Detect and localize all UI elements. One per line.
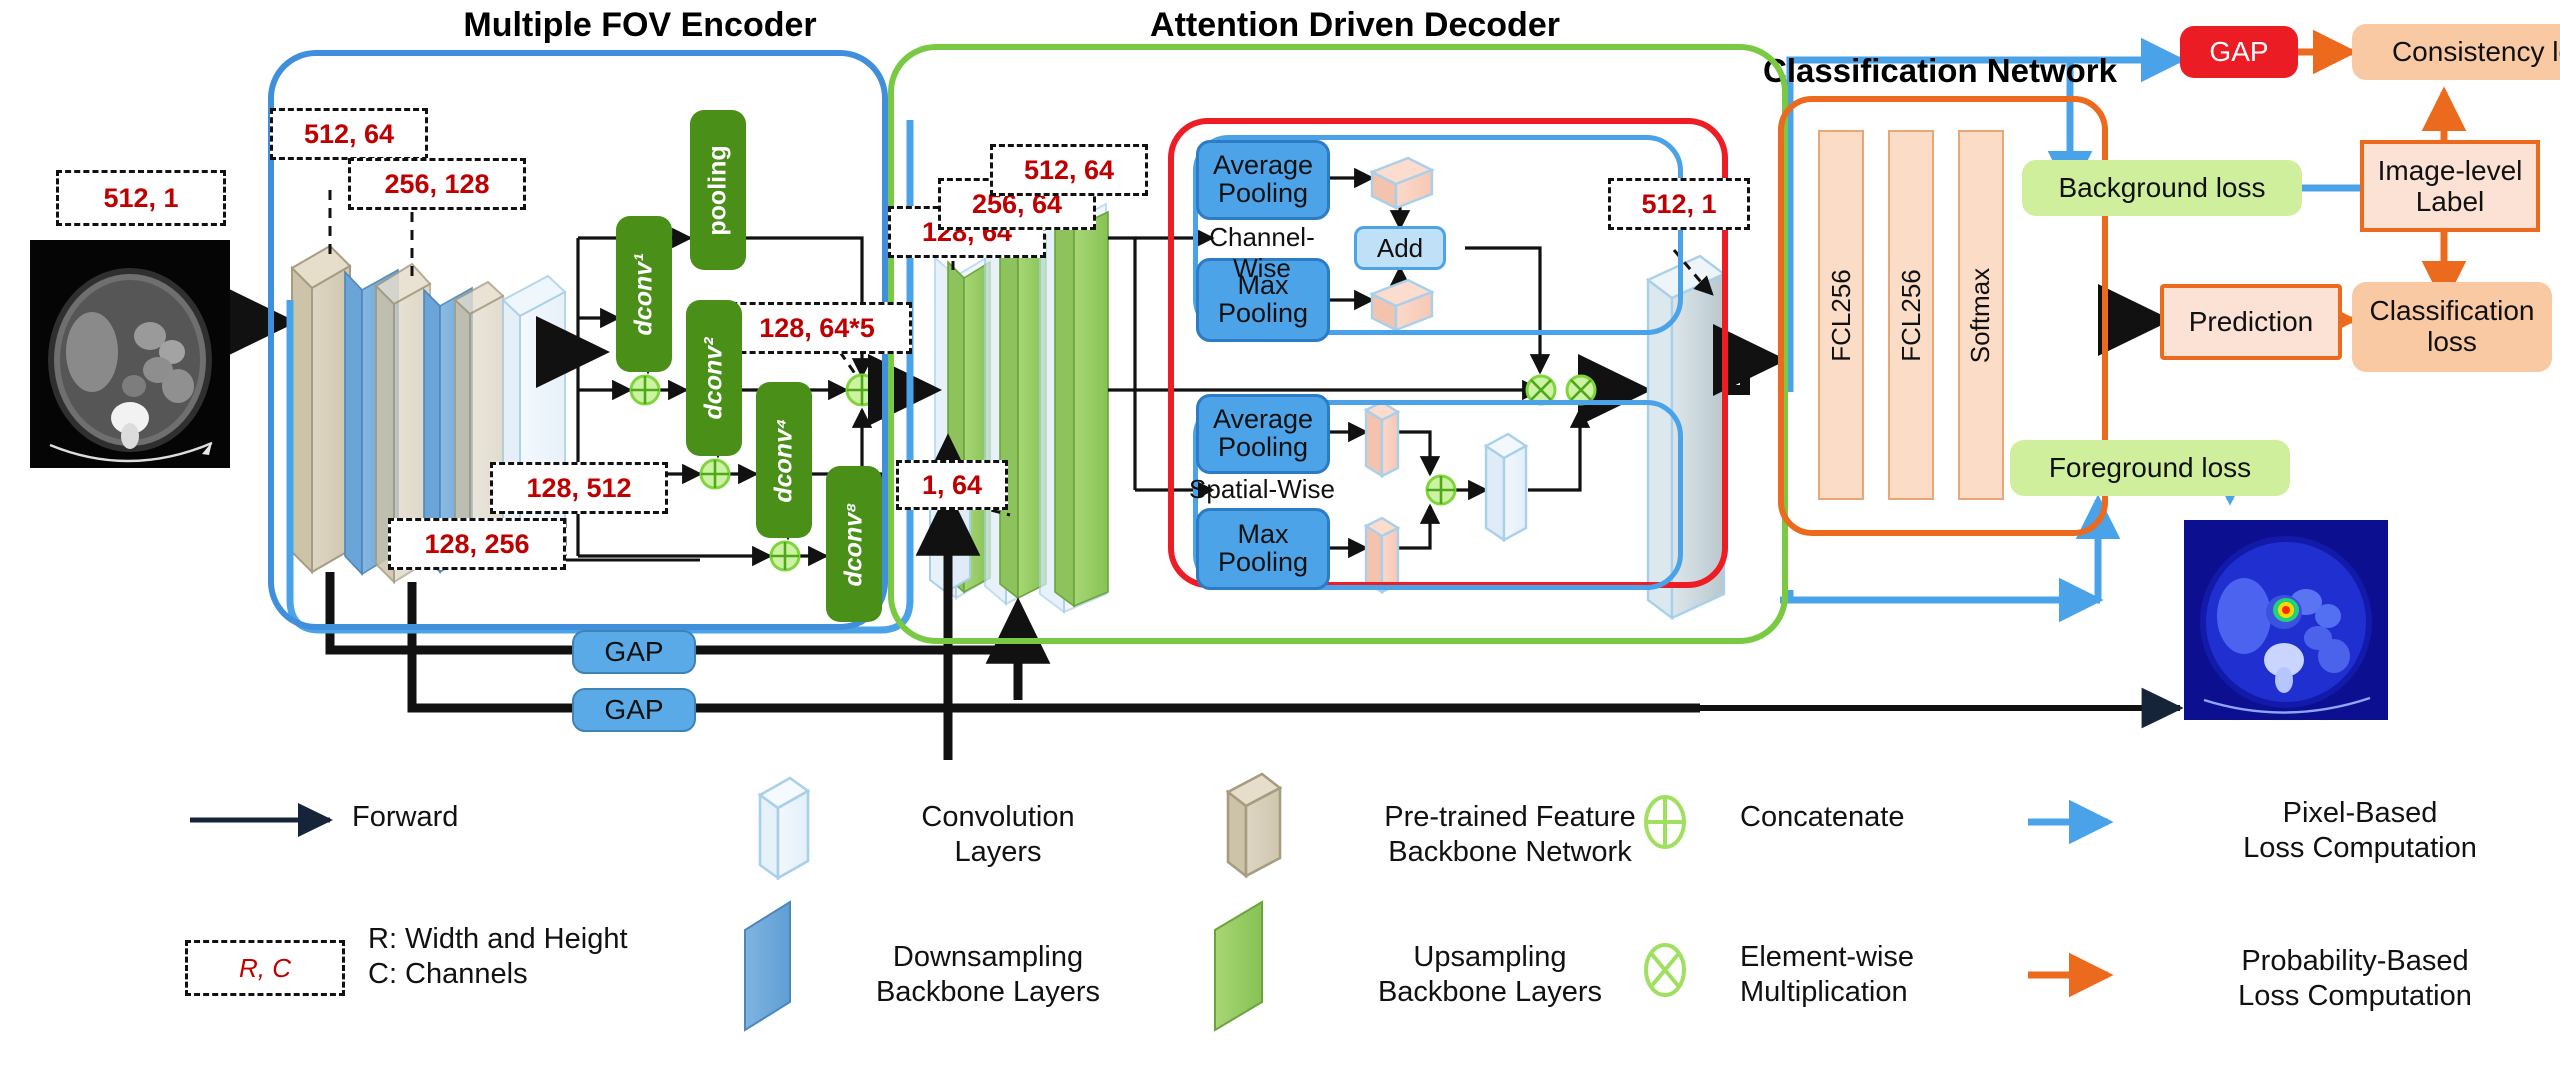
image-level-label-box: Image-levelLabel xyxy=(2360,140,2540,232)
legend-elementwise-label: Element-wise Multiplication xyxy=(1740,940,2040,1011)
max-pool-line2: Pooling xyxy=(1218,298,1308,328)
legend-rc-symbol: R, C xyxy=(185,940,345,996)
fcl256-layer-1: FCL256 xyxy=(1818,130,1864,500)
encoder-dim-128-512: 128, 512 xyxy=(490,462,668,514)
image-level-line2: Label xyxy=(2416,186,2485,217)
legend-pixel-line1: Pixel-Based xyxy=(2160,796,2560,831)
encoder-dim-512-64: 512, 64 xyxy=(270,108,428,160)
class-loss-line2: loss xyxy=(2427,326,2477,357)
output-heatmap-image xyxy=(2184,520,2388,720)
decoder-dim-512-64: 512, 64 xyxy=(990,144,1148,196)
legend-down-line1: Downsampling xyxy=(818,940,1158,975)
legend-up-line2: Backbone Layers xyxy=(1320,975,1660,1010)
channel-average-pooling-block: AveragePooling xyxy=(1196,140,1330,220)
legend-pre-line2: Backbone Network xyxy=(1310,835,1710,870)
foreground-loss-box: Foreground loss xyxy=(2010,440,2290,496)
legend-rc-line2: C: Channels xyxy=(368,957,788,992)
add-block: Add xyxy=(1354,226,1446,270)
dconv4-block: dconv⁴ xyxy=(756,382,812,538)
legend-prob-line2: Loss Computation xyxy=(2150,979,2560,1014)
dconv2-block: dconv² xyxy=(686,300,742,456)
legend-upsampling-label: Upsampling Backbone Layers xyxy=(1320,940,1660,1011)
gap-block-1: GAP xyxy=(572,630,696,674)
image-level-line1: Image-level xyxy=(2378,155,2523,186)
input-ct-image xyxy=(30,240,230,468)
background-loss-box: Background loss xyxy=(2022,160,2302,216)
legend-elem-line1: Element-wise xyxy=(1740,940,2040,975)
spatial-average-pooling-block: AveragePooling xyxy=(1196,394,1330,474)
legend-probability-based-label: Probability-Based Loss Computation xyxy=(2150,944,2560,1015)
legend-concatenate-label: Concatenate xyxy=(1740,800,2040,835)
decoder-output-dim: 512, 1 xyxy=(1608,178,1750,230)
input-dim-label: 512, 1 xyxy=(56,170,226,226)
channel-wise-label: Channel-Wise xyxy=(1182,222,1342,256)
class-loss-line1: Classification xyxy=(2370,295,2535,326)
legend-rc-description: R: Width and Height C: Channels xyxy=(368,922,788,993)
avg-pool-line1: Average xyxy=(1213,150,1313,180)
decoder-section-title: Attention Driven Decoder xyxy=(1075,6,1635,45)
legend-forward-label: Forward xyxy=(352,800,672,835)
encoder-section-title: Multiple FOV Encoder xyxy=(380,6,900,45)
legend-down-line2: Backbone Layers xyxy=(818,975,1158,1010)
sp-avg-pool-line1: Average xyxy=(1213,404,1313,434)
softmax-layer: Softmax xyxy=(1958,130,2004,500)
encoder-dim-128-256: 128, 256 xyxy=(388,518,566,570)
legend-prob-line1: Probability-Based xyxy=(2150,944,2560,979)
legend-up-line1: Upsampling xyxy=(1320,940,1660,975)
legend-pixel-based-label: Pixel-Based Loss Computation xyxy=(2160,796,2560,867)
consistency-loss-box: Consistency loss xyxy=(2352,24,2560,80)
legend-downsampling-label: Downsampling Backbone Layers xyxy=(818,940,1158,1011)
sp-max-pool-line2: Pooling xyxy=(1218,547,1308,577)
legend-pretrained-label: Pre-trained Feature Backbone Network xyxy=(1310,800,1710,871)
spatial-max-pooling-block: MaxPooling xyxy=(1196,508,1330,590)
dconv1-block: dconv¹ xyxy=(616,216,672,372)
legend-rc-line1: R: Width and Height xyxy=(368,922,788,957)
avg-pool-line2: Pooling xyxy=(1218,178,1308,208)
legend-conv-line1: Convolution xyxy=(838,800,1158,835)
legend-elem-line2: Multiplication xyxy=(1740,975,2040,1010)
classification-loss-box: Classificationloss xyxy=(2352,282,2552,372)
decoder-dim-1-64: 1, 64 xyxy=(896,460,1008,510)
legend-convolution-label: Convolution Layers xyxy=(838,800,1158,871)
dconv8-block: dconv⁸ xyxy=(826,466,882,622)
legend-conv-line2: Layers xyxy=(838,835,1158,870)
legend-pre-line1: Pre-trained Feature xyxy=(1310,800,1710,835)
encoder-dconv-output-dim: 128, 64*5 xyxy=(722,302,912,354)
pooling-block: pooling xyxy=(690,110,746,270)
fcl256-layer-2: FCL256 xyxy=(1888,130,1934,500)
sp-avg-pool-line2: Pooling xyxy=(1218,432,1308,462)
architecture-diagram: Multiple FOV Encoder Attention Driven De… xyxy=(0,0,2560,1067)
encoder-dim-256-128: 256, 128 xyxy=(348,158,526,210)
legend-pixel-line2: Loss Computation xyxy=(2160,831,2560,866)
spatial-wise-label: Spatial-Wise xyxy=(1182,474,1342,508)
prediction-box: Prediction xyxy=(2160,284,2342,360)
sp-max-pool-line1: Max xyxy=(1237,519,1288,549)
gap-block-2: GAP xyxy=(572,688,696,732)
gap-block-red: GAP xyxy=(2180,26,2298,78)
